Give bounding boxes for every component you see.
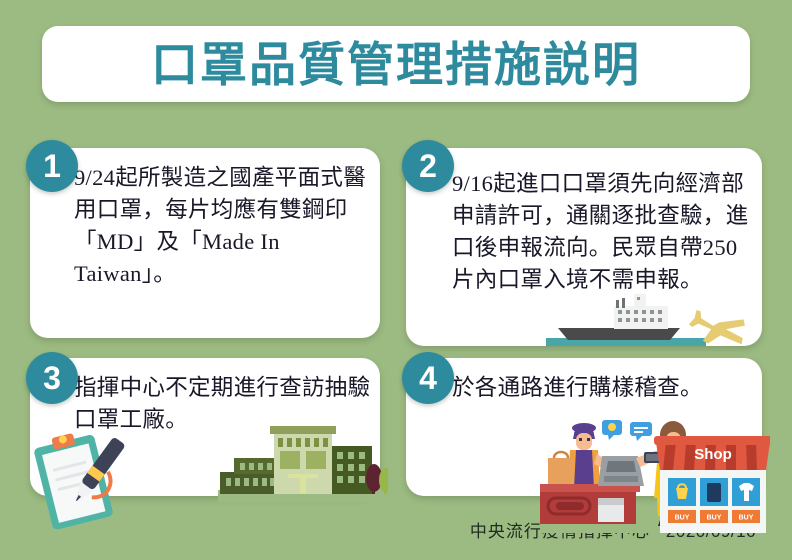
page-title: 口罩品質管理措施説明	[151, 41, 641, 88]
step-number-badge-4: 4	[402, 352, 454, 404]
info-card-4-text: 於各通路進行購樣稽查。	[452, 372, 752, 404]
info-card-4: 於各通路進行購樣稽查。	[406, 358, 762, 496]
info-card-2-text: 9/16起進口口罩須先向經濟部申請許可，通關逐批查驗，進口後申報流向。民眾自帶2…	[452, 168, 752, 296]
step-number-badge-3: 3	[26, 352, 78, 404]
info-card-1-text: 9/24起所製造之國產平面式醫用口罩，每片均應有雙鋼印「MD」及「Made In…	[74, 162, 374, 290]
info-card-1: 9/24起所製造之國產平面式醫用口罩，每片均應有雙鋼印「MD」及「Made In…	[30, 148, 380, 338]
info-card-2: 9/16起進口口罩須先向經濟部申請許可，通關逐批查驗，進口後申報流向。民眾自帶2…	[406, 148, 762, 346]
step-number-badge-2: 2	[402, 140, 454, 192]
footer: 中央流行疫情指揮中心 2020/09/16	[470, 517, 756, 542]
title-card: 口罩品質管理措施説明	[42, 26, 750, 102]
footer-agency: 中央流行疫情指揮中心	[470, 517, 650, 542]
info-card-3: 指揮中心不定期進行查訪抽驗口罩工廠。	[30, 358, 380, 496]
info-card-3-text: 指揮中心不定期進行查訪抽驗口罩工廠。	[74, 372, 374, 436]
step-number-badge-1: 1	[26, 140, 78, 192]
poster-canvas: 口罩品質管理措施説明 9/24起所製造之國產平面式醫用口罩，每片均應有雙鋼印「M…	[0, 0, 792, 560]
footer-date: 2020/09/16	[666, 522, 756, 542]
